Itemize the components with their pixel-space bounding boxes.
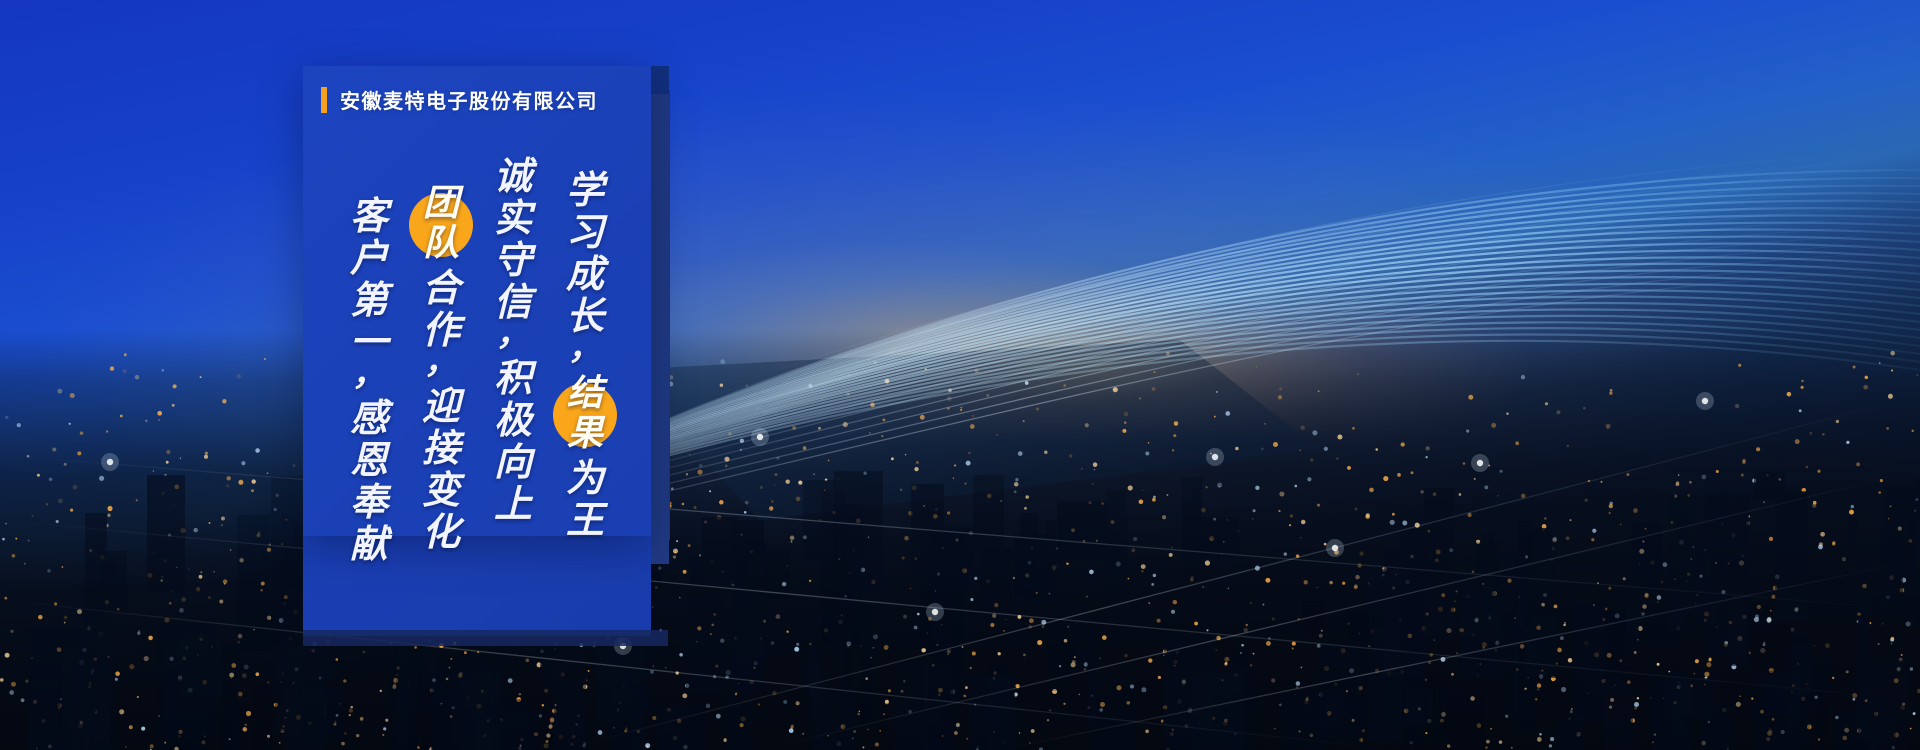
slogan-char: 为 xyxy=(566,458,604,500)
slogan-char: 献 xyxy=(350,524,388,566)
slogan-char: 结 xyxy=(567,375,603,415)
slogan-comma: ， xyxy=(352,364,386,398)
slogan-comma: ， xyxy=(424,352,458,386)
fiber-light-streaks xyxy=(0,0,1920,750)
slogan-char: 诚 xyxy=(494,156,532,198)
slogan-char: 迎 xyxy=(422,386,460,428)
card-bottom-strip xyxy=(303,630,668,646)
highlight-circle: 团队 xyxy=(409,182,473,268)
slogan-char: 实 xyxy=(494,198,532,240)
slogan-char: 王 xyxy=(566,500,604,542)
slogan-char: 学 xyxy=(566,170,604,212)
slogan-char: 队 xyxy=(423,225,459,265)
slogan-comma: ， xyxy=(568,338,602,372)
slogan-column-3: 团队合作，迎接变化 xyxy=(405,182,477,554)
slogan-char: 接 xyxy=(422,428,460,470)
card-fold-side xyxy=(651,94,669,564)
slogan-char: 团 xyxy=(423,185,459,225)
slogan-column-4: 客户第一，感恩奉献 xyxy=(333,196,405,566)
slogan-comma: ， xyxy=(496,324,530,358)
slogan-char: 客 xyxy=(350,196,388,238)
slogan-card: 安徽麦特电子股份有限公司 学习成长，结果为王 诚实守信，积极向上 团队合作，迎接… xyxy=(303,66,651,536)
slogan-char: 守 xyxy=(494,240,532,282)
accent-bar-icon xyxy=(321,87,327,113)
slogan-column-2: 诚实守信，积极向上 xyxy=(477,156,549,526)
slogan-char: 极 xyxy=(494,400,532,442)
slogan-char: 户 xyxy=(350,238,388,280)
slogan-char: 果 xyxy=(567,415,603,455)
slogan-char: 上 xyxy=(494,484,532,526)
slogan-char: 感 xyxy=(350,398,388,440)
slogan-char: 合 xyxy=(422,268,460,310)
company-title-row: 安徽麦特电子股份有限公司 xyxy=(321,85,598,114)
banner-stage: 安徽麦特电子股份有限公司 学习成长，结果为王 诚实守信，积极向上 团队合作，迎接… xyxy=(0,0,1920,750)
card-fold-top xyxy=(651,66,669,94)
slogan-char: 变 xyxy=(422,470,460,512)
slogan-char: 习 xyxy=(566,212,604,254)
slogan-char: 向 xyxy=(494,442,532,484)
slogan-columns: 学习成长，结果为王 诚实守信，积极向上 团队合作，迎接变化 客户第一，感恩奉献 xyxy=(303,152,651,536)
slogan-column-1: 学习成长，结果为王 xyxy=(549,170,621,542)
slogan-char: 第 xyxy=(350,280,388,322)
slogan-char: 化 xyxy=(422,512,460,554)
company-name: 安徽麦特电子股份有限公司 xyxy=(340,85,598,114)
slogan-char: 积 xyxy=(494,358,532,400)
slogan-char: 成 xyxy=(566,254,604,296)
slogan-char: 奉 xyxy=(350,482,388,524)
highlight-circle: 结果 xyxy=(553,372,617,458)
slogan-char: 恩 xyxy=(350,440,388,482)
